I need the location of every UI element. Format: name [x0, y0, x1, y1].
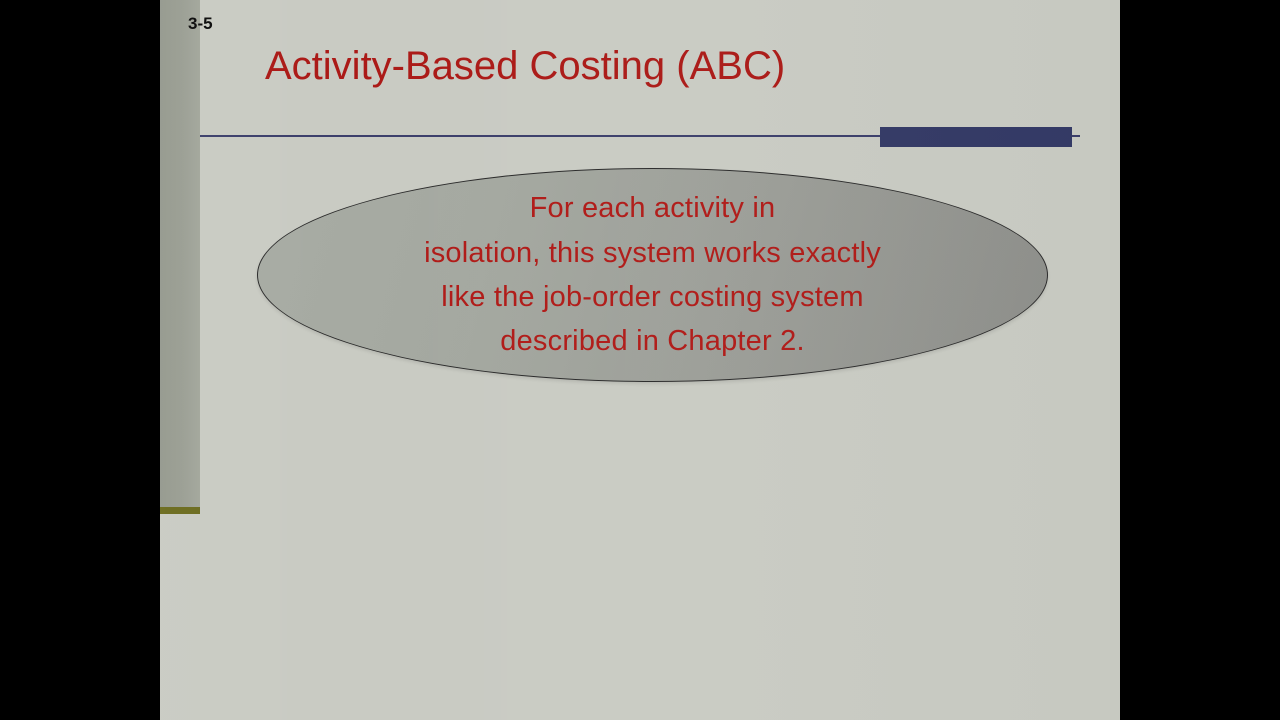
slide-accent-sidebar-foot [160, 507, 200, 514]
ellipse-callout-text: For each activity in isolation, this sys… [394, 186, 911, 363]
title-divider-accent-block [880, 127, 1072, 147]
letterbox-left [0, 0, 160, 720]
slide-accent-sidebar [160, 0, 200, 509]
letterbox-right [1120, 0, 1280, 720]
presentation-slide: 3-5 Activity-Based Costing (ABC) For eac… [160, 0, 1120, 720]
slide-title: Activity-Based Costing (ABC) [265, 44, 1065, 88]
slide-number: 3-5 [188, 14, 213, 34]
screen: 3-5 Activity-Based Costing (ABC) For eac… [0, 0, 1280, 720]
ellipse-callout: For each activity in isolation, this sys… [257, 168, 1048, 382]
